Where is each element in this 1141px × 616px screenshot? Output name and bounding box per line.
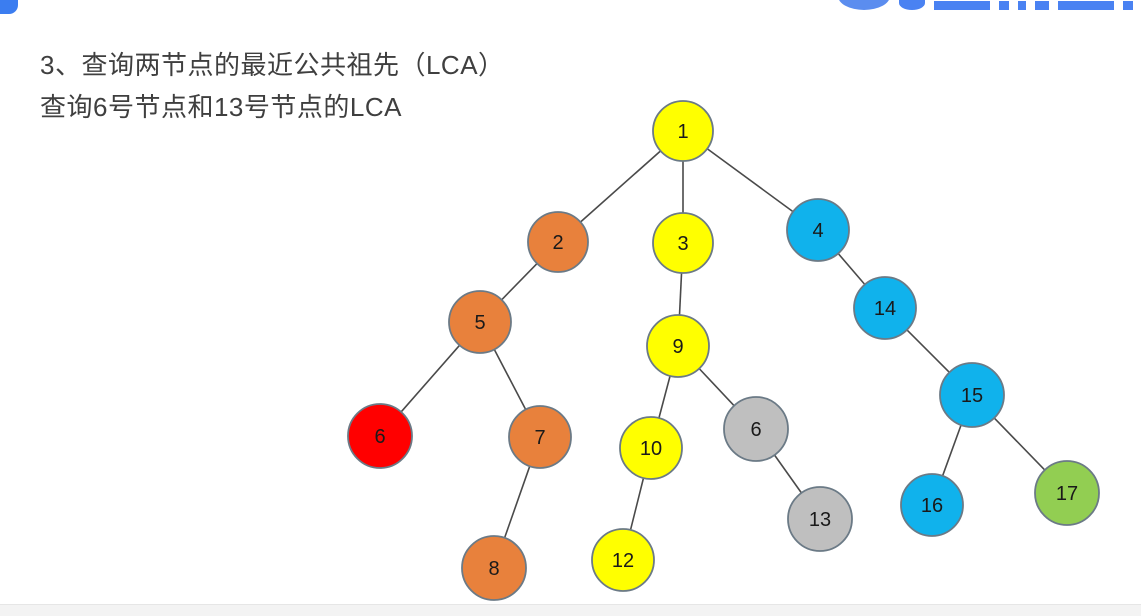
tree-node-label: 16 <box>921 495 943 517</box>
tree-node-label: 7 <box>534 427 545 449</box>
tree-node-label: 6 <box>750 419 761 441</box>
tree-edge-1-2 <box>580 150 662 222</box>
tree-node-n3[interactable]: 3 <box>653 213 713 273</box>
tree-node-label: 1 <box>677 121 688 143</box>
bottom-strip <box>0 604 1141 616</box>
tree-edge-3-9 <box>679 272 681 316</box>
tree-node-n8[interactable]: 8 <box>462 536 526 600</box>
tree-edge-10-12 <box>630 477 643 531</box>
tree-node-n15[interactable]: 15 <box>940 363 1004 427</box>
tree-node-n2[interactable]: 2 <box>528 212 588 272</box>
tree-node-label: 4 <box>812 220 823 242</box>
tree-node-label: 2 <box>552 232 563 254</box>
tree-node-n5[interactable]: 5 <box>449 291 511 353</box>
tree-svg-canvas: 123456789106121314151617 <box>0 0 1141 604</box>
tree-node-n9[interactable]: 9 <box>647 315 709 377</box>
tree-node-label: 15 <box>961 385 983 407</box>
tree-node-n13[interactable]: 13 <box>788 487 852 551</box>
tree-node-label: 9 <box>672 336 683 358</box>
lca-tree-diagram: 123456789106121314151617 <box>0 0 1141 604</box>
tree-node-n14[interactable]: 14 <box>854 277 916 339</box>
tree-edge-14-15 <box>906 329 950 373</box>
tree-node-label: 13 <box>809 509 831 531</box>
tree-edge-9-6 <box>699 368 735 407</box>
slide-canvas: 3、查询两节点的最近公共祖先（LCA） 查询6号节点和13号节点的LCA 123… <box>0 0 1141 604</box>
tree-edge-9-10 <box>659 375 671 419</box>
tree-node-label: 6 <box>374 426 385 448</box>
tree-node-n17[interactable]: 17 <box>1035 461 1099 525</box>
tree-node-n10[interactable]: 10 <box>620 417 682 479</box>
tree-node-label: 10 <box>640 438 662 460</box>
tree-node-n6a[interactable]: 6 <box>348 404 412 468</box>
tree-node-n7[interactable]: 7 <box>509 406 571 468</box>
tree-edge-5-7 <box>494 349 526 411</box>
tree-node-n16[interactable]: 16 <box>901 474 963 536</box>
tree-node-n6b[interactable]: 6 <box>724 397 788 461</box>
tree-node-label: 5 <box>474 312 485 334</box>
tree-node-n12[interactable]: 12 <box>592 529 654 591</box>
tree-node-label: 12 <box>612 550 634 572</box>
tree-edge-15-17 <box>994 417 1046 470</box>
tree-node-label: 3 <box>677 233 688 255</box>
tree-node-layer: 123456789106121314151617 <box>348 101 1099 600</box>
tree-edge-6-13 <box>774 454 802 493</box>
tree-edge-7-8 <box>504 465 530 538</box>
tree-node-n4[interactable]: 4 <box>787 199 849 261</box>
tree-edge-2-5 <box>501 263 538 301</box>
tree-edge-1-4 <box>706 148 793 212</box>
tree-node-label: 17 <box>1056 483 1078 505</box>
tree-edge-15-16 <box>942 424 961 477</box>
tree-edge-5-6 <box>400 345 460 413</box>
tree-node-n1[interactable]: 1 <box>653 101 713 161</box>
tree-edge-4-14 <box>838 253 866 285</box>
tree-node-label: 8 <box>488 558 499 580</box>
tree-node-label: 14 <box>874 298 896 320</box>
